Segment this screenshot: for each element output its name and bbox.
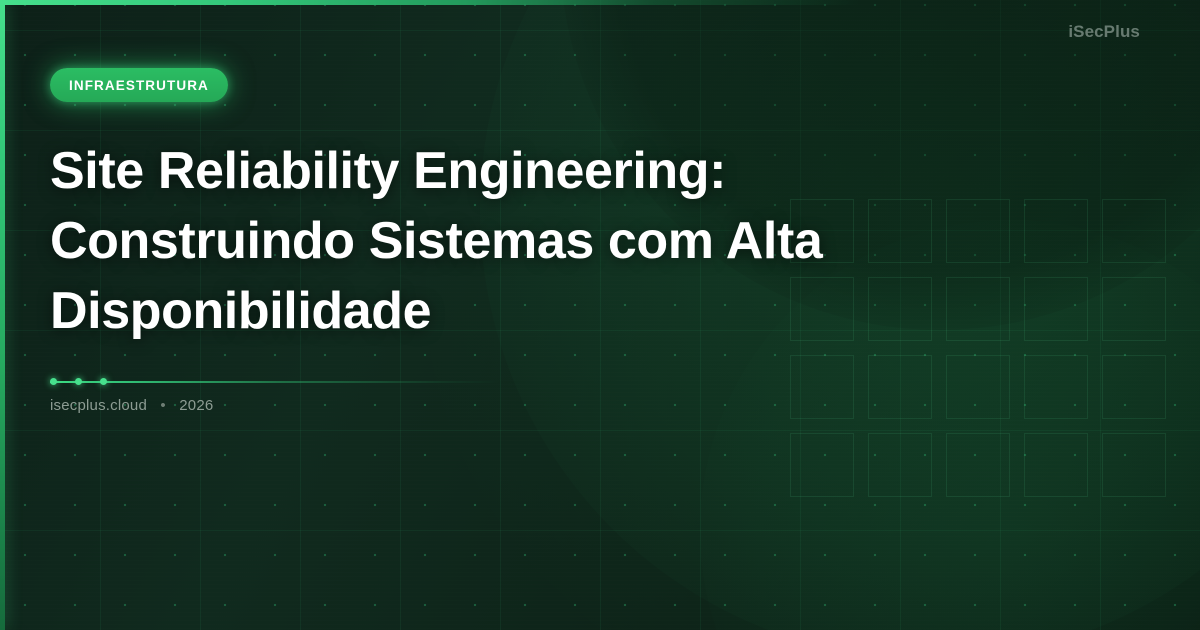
- category-badge-label: INFRAESTRUTURA: [69, 78, 209, 93]
- decorative-square: [1102, 355, 1166, 419]
- decorative-square: [1024, 277, 1088, 341]
- decorative-square: [868, 433, 932, 497]
- decorative-square: [1102, 433, 1166, 497]
- meta-site: isecplus.cloud: [50, 397, 147, 414]
- decorative-square: [868, 355, 932, 419]
- divider-dot: [100, 378, 107, 385]
- meta-separator: •: [151, 397, 174, 414]
- meta-line: isecplus.cloud • 2026: [50, 397, 213, 414]
- decorative-square: [1102, 199, 1166, 263]
- divider-line: [50, 381, 500, 383]
- divider-dot: [75, 378, 82, 385]
- decorative-square: [868, 277, 932, 341]
- decorative-square: [946, 277, 1010, 341]
- decorative-square: [946, 199, 1010, 263]
- category-badge: INFRAESTRUTURA: [50, 68, 228, 102]
- social-card: iSecPlus INFRAESTRUTURA Site Reliability…: [0, 0, 1200, 630]
- decorative-square: [868, 199, 932, 263]
- decorative-square: [1102, 277, 1166, 341]
- divider-dot: [50, 378, 57, 385]
- decorative-square: [946, 355, 1010, 419]
- decorative-square: [1024, 433, 1088, 497]
- decorative-square: [1024, 355, 1088, 419]
- page-title: Site Reliability Engineering: Construind…: [50, 136, 840, 346]
- brand-logo-text: iSecPlus: [1068, 22, 1140, 42]
- decorative-square-lattice: [790, 199, 1190, 519]
- decorative-square: [946, 433, 1010, 497]
- decorative-square: [1024, 199, 1088, 263]
- meta-year: 2026: [179, 397, 213, 414]
- card-content: INFRAESTRUTURA Site Reliability Engineer…: [50, 0, 840, 630]
- accent-bar-left: [0, 0, 5, 630]
